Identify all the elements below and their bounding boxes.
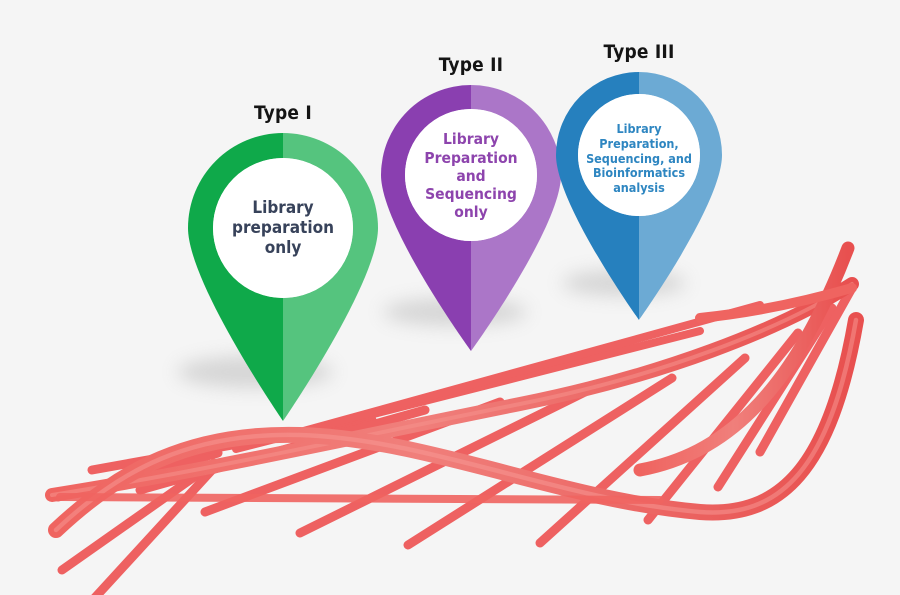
infographic-canvas: Type I Library preparation only [0, 0, 900, 595]
pin-text-line: preparation [232, 218, 334, 238]
pin-text-line: Library [443, 130, 499, 148]
pin-text-line: Library [252, 198, 313, 218]
pin-shape-type-1 [188, 133, 378, 421]
pin-text-line: Sequencing [425, 185, 517, 203]
pin-text-line: and [456, 167, 485, 185]
pin-label-type-1: Type I [188, 102, 378, 124]
pin-label-type-3: Type III [556, 41, 722, 63]
dna-strand-lower [60, 497, 660, 500]
pin-text-type-3: Library Preparation, Sequencing, and Bio… [574, 110, 704, 208]
pin-label-type-2: Type II [381, 54, 561, 76]
pin-text-type-1: Library preparation only [218, 189, 348, 267]
pin-marker-type-1[interactable]: Type I Library preparation only [188, 133, 378, 421]
pin-text-line: only [265, 238, 302, 258]
pin-marker-type-3[interactable]: Type III Library Preparation, Sequencing… [556, 72, 722, 320]
pin-text-line: Preparation, [599, 137, 678, 152]
pin-text-line: Bioinformatics [593, 166, 685, 181]
pin-text-line: Sequencing, and [586, 152, 692, 167]
pin-text-line: Library [616, 122, 661, 137]
pin-text-line: Preparation [424, 149, 517, 167]
pin-text-type-2: Library Preparation and Sequencing only [408, 121, 534, 231]
pin-text-line: analysis [613, 181, 665, 196]
pin-text-line: only [454, 203, 487, 221]
pin-marker-type-2[interactable]: Type II Library Preparation and Sequenc [381, 85, 561, 351]
